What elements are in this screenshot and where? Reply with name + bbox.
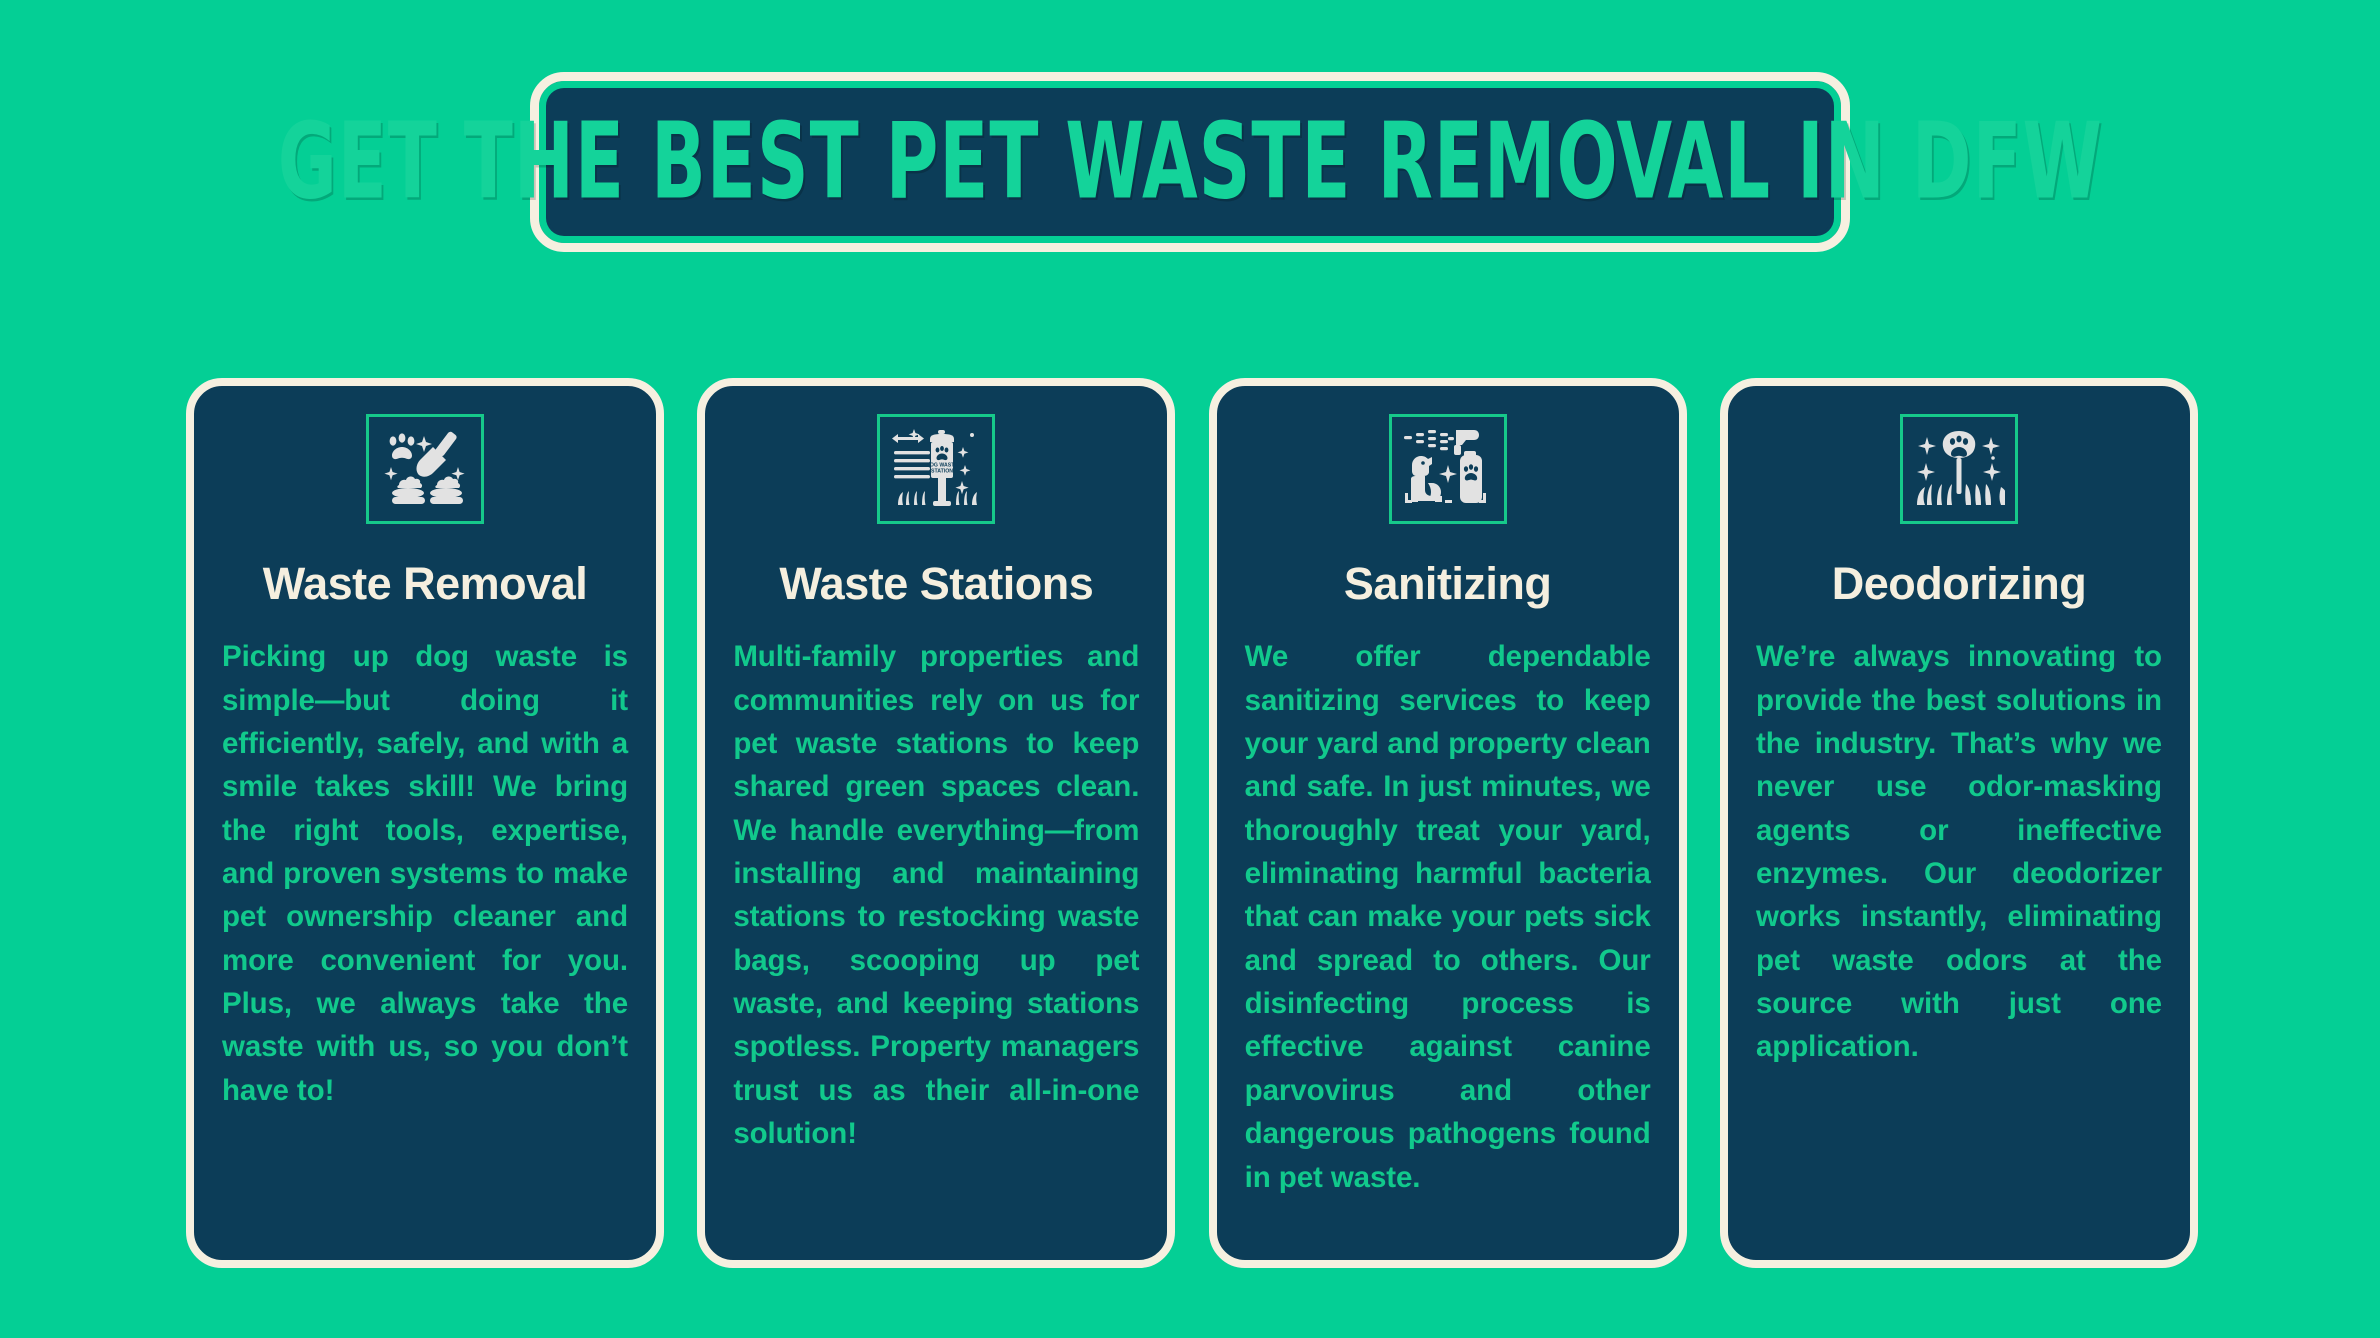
card-title: Deodorizing — [1832, 560, 2086, 607]
page-title: GET THE BEST PET WASTE REMOVAL IN DFW — [277, 101, 2102, 223]
dog-spray-sanitize-icon — [1402, 427, 1494, 511]
card-body: Multi-family properties and communities … — [733, 635, 1139, 1155]
card-title: Waste Stations — [779, 560, 1093, 607]
card-title: Waste Removal — [263, 560, 587, 607]
card-body: We’re always innovating to provide the b… — [1756, 635, 2162, 1069]
icon-frame — [366, 414, 484, 524]
icon-frame — [1900, 414, 2018, 524]
service-cards-row: Waste Removal Picking up dog waste is si… — [186, 378, 2198, 1268]
service-card-waste-removal[interactable]: Waste Removal Picking up dog waste is si… — [186, 378, 664, 1268]
headline-banner-inner: GET THE BEST PET WASTE REMOVAL IN DFW — [546, 88, 1834, 236]
service-card-waste-stations[interactable]: DOG WASTE STATION — [697, 378, 1175, 1268]
service-card-deodorizing[interactable]: Deodorizing We’re always innovating to p… — [1720, 378, 2198, 1268]
svg-text:STATION: STATION — [931, 469, 953, 475]
paw-grass-sparkle-icon — [1913, 427, 2005, 511]
icon-frame: DOG WASTE STATION — [877, 414, 995, 524]
dog-waste-station-icon: DOG WASTE STATION — [890, 427, 982, 511]
scoop-dog-waste-icon — [379, 427, 471, 511]
service-card-sanitizing[interactable]: Sanitizing We offer dependable sanitizin… — [1209, 378, 1687, 1268]
icon-frame — [1389, 414, 1507, 524]
card-title: Sanitizing — [1344, 560, 1552, 607]
card-body: We offer dependable sanitizing services … — [1245, 635, 1651, 1199]
card-body: Picking up dog waste is simple—but doing… — [222, 635, 628, 1112]
headline-banner: GET THE BEST PET WASTE REMOVAL IN DFW — [530, 72, 1850, 252]
